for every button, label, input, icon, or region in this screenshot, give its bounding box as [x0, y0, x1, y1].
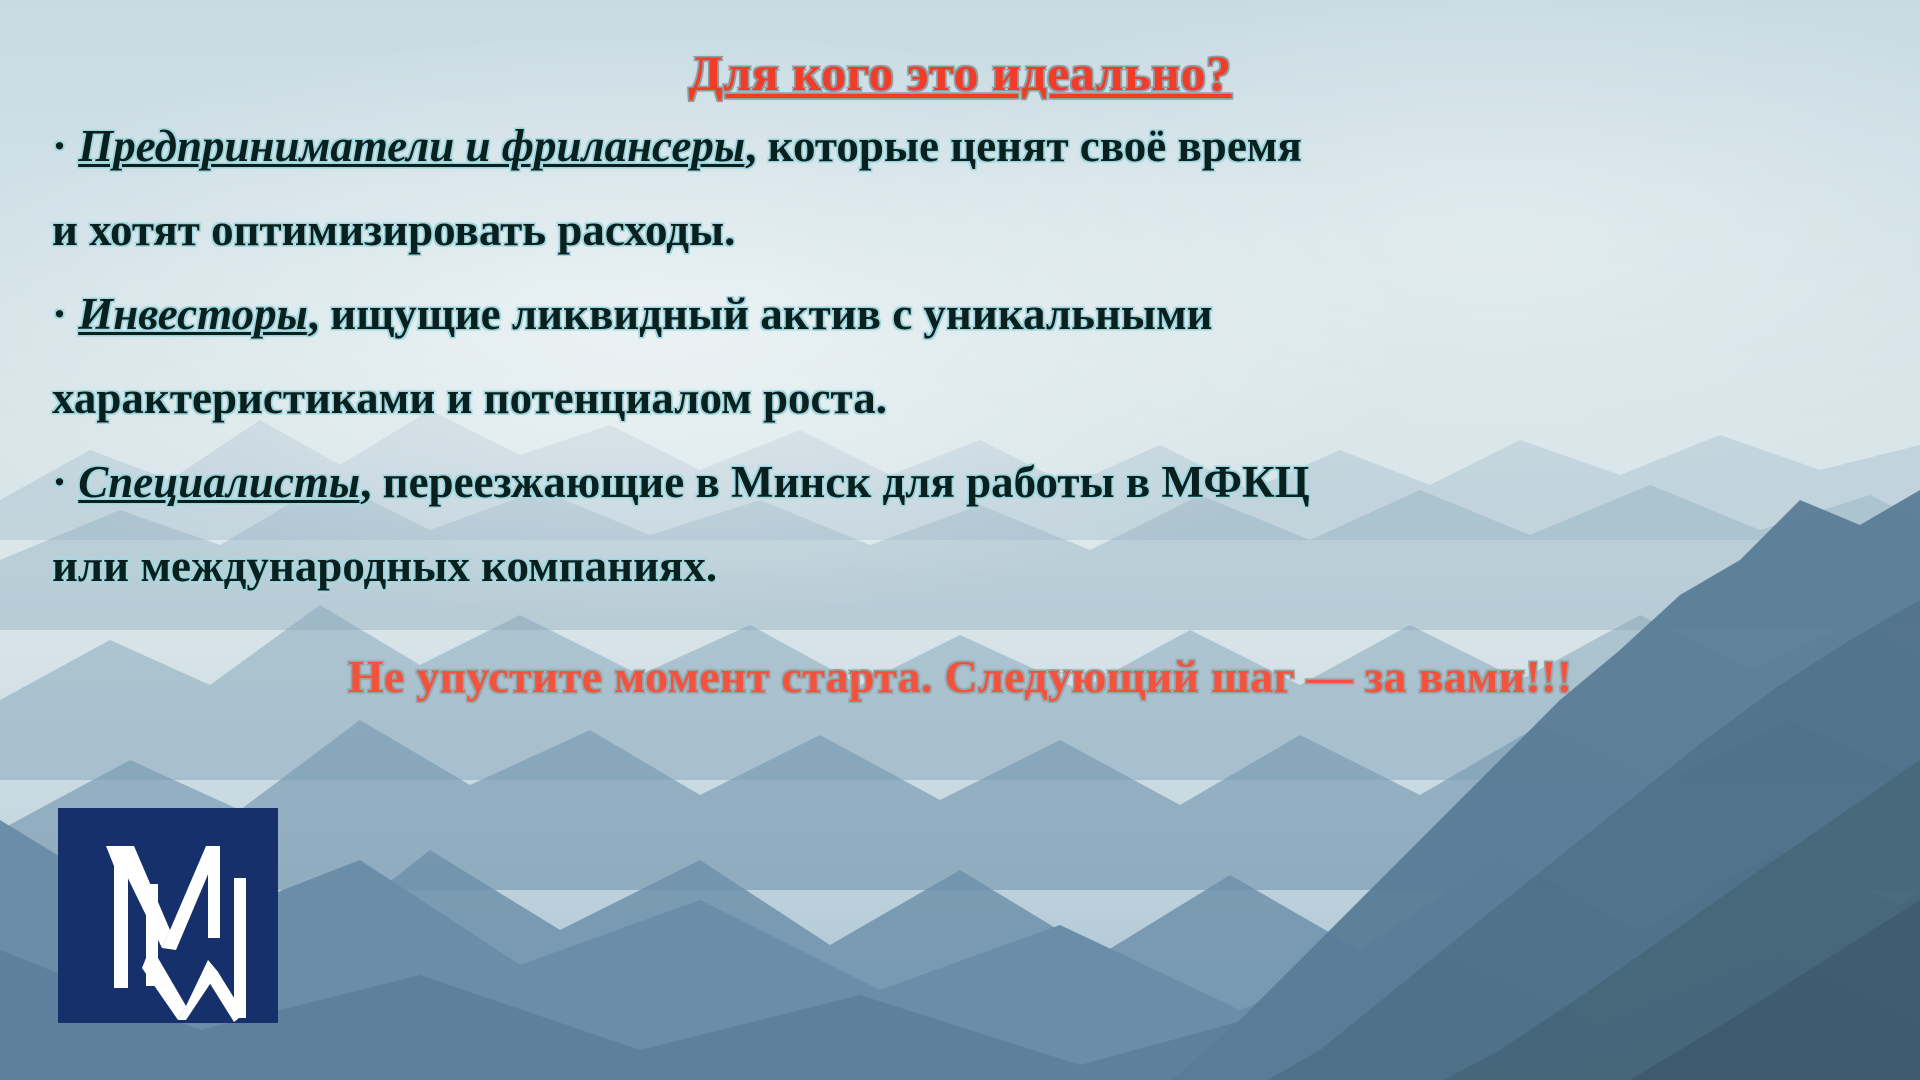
bullet-rest-text: , переезжающие в Минск для работы в МФКЦ — [360, 457, 1309, 507]
logo-mw — [58, 808, 278, 1023]
bullet-continuation-text: и хотят оптимизировать расходы. — [52, 205, 735, 255]
list-item-continuation: характеристиками и потенциалом роста. — [52, 356, 1880, 440]
logo-monogram-icon — [58, 808, 278, 1023]
bullet-rest-text: , которые ценят своё время — [745, 121, 1302, 171]
page-title: Для кого это идеально? — [0, 0, 1920, 98]
bullet-rest-text: , ищущие ликвидный актив с уникальными — [308, 289, 1213, 339]
call-to-action-text: Не упустите момент старта. Следующий шаг… — [348, 651, 1573, 702]
bullet-lead-term: Предприниматели и фрилансеры — [78, 121, 745, 171]
bullet-continuation-text: характеристиками и потенциалом роста. — [52, 373, 887, 423]
list-item: · Специалисты, переезжающие в Минск для … — [52, 440, 1880, 524]
slide-content: Для кого это идеально? · Предприниматели… — [0, 0, 1920, 700]
bullet-list: · Предприниматели и фрилансеры, которые … — [0, 98, 1920, 608]
bullet-continuation-text: или международных компаниях. — [52, 541, 717, 591]
bullet-marker: · — [52, 121, 67, 171]
bullet-marker: · — [52, 457, 67, 507]
slide-canvas: Для кого это идеально? · Предприниматели… — [0, 0, 1920, 1080]
page-title-text: Для кого это идеально? — [688, 45, 1231, 101]
bullet-lead-term: Специалисты — [78, 457, 360, 507]
list-item: · Предприниматели и фрилансеры, которые … — [52, 104, 1880, 188]
list-item-continuation: и хотят оптимизировать расходы. — [52, 188, 1880, 272]
list-item: · Инвесторы, ищущие ликвидный актив с ун… — [52, 272, 1880, 356]
bullet-marker: · — [52, 289, 67, 339]
bullet-lead-term: Инвесторы — [78, 289, 308, 339]
list-item-continuation: или международных компаниях. — [52, 524, 1880, 608]
call-to-action: Не упустите момент старта. Следующий шаг… — [0, 608, 1920, 700]
